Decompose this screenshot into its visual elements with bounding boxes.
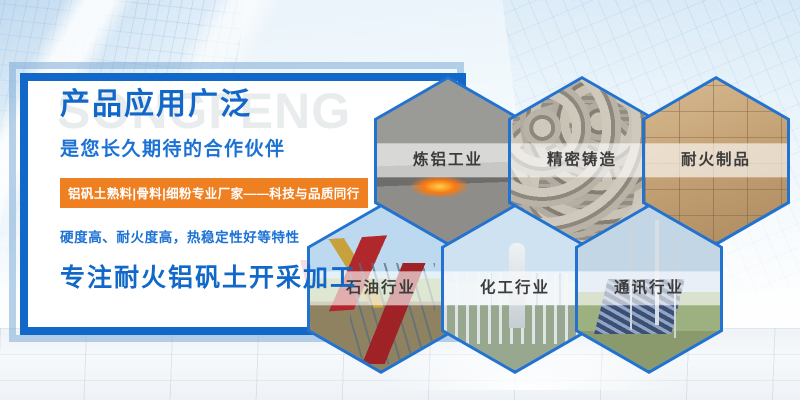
page-title: 产品应用广泛 [60,88,360,122]
secondary-headline: 专注耐火铝矾土开采加工 [60,258,360,294]
status-badge: 铝矾土熟料|骨料|细粉专业厂家——科技与品质同行 [60,178,368,208]
hex-label-smelting: 炼铝工业 [377,143,519,177]
hex-label-refractory: 耐火制品 [645,143,787,177]
page-subtitle: 是您长久期待的合作伙伴 [60,134,360,161]
hex-label-chemical: 化工行业 [444,271,586,305]
hex-label-casting: 精密铸造 [511,143,653,177]
feature-text: 硬度高、耐火度高，热稳定性好等特性 [60,226,360,246]
headline-block: SONGFENG 产品应用广泛 是您长久期待的合作伙伴 铝矾土熟料|骨料|细粉专… [60,88,360,294]
hex-label-telecom: 通讯行业 [578,271,720,305]
promotional-banner: W SONGFENG 产品应用广泛 是您长久期待的合作伙伴 铝矾土熟料|骨料|细… [0,0,800,400]
